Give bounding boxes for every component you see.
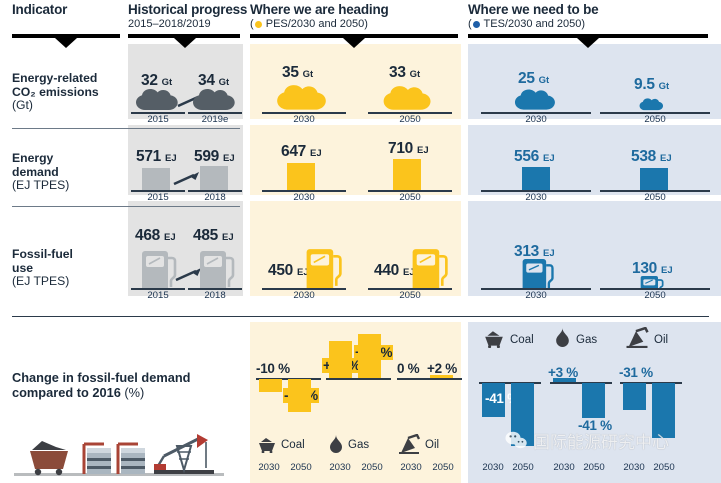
value-co2-tes-2050: 9.5 Gt (634, 76, 669, 94)
watermark: 国际能源研究中心 (505, 428, 669, 453)
value-ed-pes-2030: 647 EJ (281, 143, 322, 161)
year-ff-hist-2018: 2018 (188, 290, 242, 301)
year-ff-pes-2050: 2050 (368, 290, 452, 301)
year-tes-gas-2030: 2030 (547, 462, 581, 473)
value-unit: Gt (410, 69, 421, 80)
row-label-energy-demand: Energy demand (EJ TPES) (12, 152, 124, 193)
year-pes-oil-2050: 2050 (426, 462, 460, 473)
value-ed-tes-2050: 538 EJ (631, 148, 672, 166)
pct-pes-oil-2030: 0 % (397, 361, 419, 376)
header-col-pes: Where we are heading ( PES/2030 and 2050… (250, 2, 389, 30)
value-number: 34 (198, 72, 215, 89)
year-tes-gas-2050: 2050 (577, 462, 611, 473)
row-label-ff-unit: (EJ TPES) (12, 275, 124, 289)
value-unit: Gt (659, 81, 670, 92)
year-ff-tes-2050: 2050 (600, 290, 710, 301)
year-pes-gas-2030: 2030 (323, 462, 357, 473)
year-co2-hist-2015: 2015 (131, 114, 185, 125)
row-label-change-line2: compared to 2016 (%) (12, 385, 232, 400)
bar-ed-tes-2030 (522, 167, 550, 190)
year-tes-oil-2030: 2030 (617, 462, 651, 473)
bar-pes-coal-2030 (259, 379, 282, 392)
value-unit: Gt (539, 75, 550, 86)
bar-ed-tes-2050 (640, 168, 668, 190)
year-co2-pes-2030: 2030 (262, 114, 346, 125)
row-label-fossil-use: Fossil-fuel use (EJ TPES) (12, 248, 124, 289)
year-ff-pes-2030: 2030 (262, 290, 346, 301)
row-label-ed-line1: Energy (12, 152, 124, 166)
value-number: 468 (135, 227, 160, 244)
value-unit: Gt (219, 77, 230, 88)
progress-arrow-row2 (172, 170, 202, 188)
fuel-pump-icon-tes-2030 (519, 258, 557, 289)
year-ff-hist-2015: 2015 (131, 290, 185, 301)
watermark-text: 国际能源研究中心 (533, 428, 669, 453)
paren-open-2: ( (468, 18, 472, 30)
value-number: 33 (389, 64, 406, 81)
oil-pumpjack-icon-tes (625, 327, 649, 348)
row-label-ed-line2: demand (12, 166, 124, 180)
value-unit: EJ (660, 153, 672, 164)
row-label-ed-unit: (EJ TPES) (12, 179, 124, 193)
header-title-historical: Historical progress (128, 2, 247, 17)
fuel-label-coal-pes: Coal (281, 439, 305, 451)
band-tes-row3 (468, 201, 721, 296)
year-ed-tes-2030: 2030 (481, 192, 591, 203)
value-unit: Gt (303, 69, 314, 80)
cloud-icon-hist-2019 (192, 88, 240, 112)
bar-pes-gas-2030 (329, 341, 352, 378)
value-number: 32 (141, 72, 158, 89)
bar-ed-pes-2030 (287, 163, 315, 190)
header-col-indicator: Indicator (12, 2, 67, 17)
year-co2-pes-2050: 2050 (368, 114, 452, 125)
bar-tes-oil-2030 (623, 383, 646, 410)
coal-cart-icon-pes (257, 437, 277, 453)
band-tes-row1 (468, 44, 721, 119)
bar-ed-hist-2018 (200, 166, 228, 190)
paren-open: ( (250, 18, 254, 30)
value-number: 25 (518, 70, 535, 87)
value-unit: EJ (223, 153, 235, 164)
value-ed-pes-2050: 710 EJ (388, 140, 429, 158)
year-tes-coal-2030: 2030 (476, 462, 510, 473)
value-number: 440 (374, 262, 399, 279)
row-label-co2-line2: CO₂ emissions (12, 86, 124, 100)
header-col-tes: Where we need to be ( TES/2030 and 2050) (468, 2, 598, 30)
gas-flame-icon-pes (329, 435, 343, 454)
year-ed-pes-2030: 2030 (262, 192, 346, 203)
row-divider-2 (12, 206, 240, 207)
zeroline-pes-oil (397, 378, 462, 380)
bar-pes-coal-2050 (288, 379, 311, 412)
header-col-historical: Historical progress 2015–2018/2019 (128, 2, 247, 30)
fuel-label-oil-tes: Oil (654, 334, 668, 346)
value-number: 599 (194, 148, 219, 165)
value-unit: EJ (165, 153, 177, 164)
pct-pes-oil-2050: +2 % (427, 361, 457, 376)
value-unit: EJ (543, 153, 555, 164)
year-pes-coal-2030: 2030 (252, 462, 286, 473)
header-title-indicator: Indicator (12, 2, 67, 17)
value-co2-tes-2030: 25 Gt (518, 70, 549, 88)
header-arrow-tes (577, 38, 599, 48)
value-ed-tes-2030: 556 EJ (514, 148, 555, 166)
year-tes-coal-2050: 2050 (506, 462, 540, 473)
header-subtitle-pes-text: PES/2030 and 2050) (266, 18, 368, 30)
pct-pes-coal-2030: -10 % (256, 361, 290, 376)
oil-pumpjack-icon (154, 434, 214, 474)
value-ff-hist-2015: 468 EJ (135, 227, 176, 245)
year-ff-tes-2030: 2030 (481, 290, 591, 301)
cloud-icon-pes-2030 (275, 84, 333, 112)
value-number: 647 (281, 143, 306, 160)
fuel-pump-icon-pes-2050 (408, 244, 452, 289)
row-label-co2-line1: Energy-related (12, 72, 124, 86)
year-pes-coal-2050: 2050 (284, 462, 318, 473)
fuel-pump-icon-hist-2018 (196, 246, 238, 290)
value-co2-pes-2050: 33 Gt (389, 64, 420, 82)
value-number: 710 (388, 140, 413, 157)
value-ed-hist-2015: 571 EJ (136, 148, 177, 166)
value-number: 35 (282, 64, 299, 81)
fuel-label-coal-tes: Coal (510, 334, 534, 346)
cloud-icon-pes-2050 (382, 85, 437, 112)
value-number: 9.5 (634, 76, 655, 93)
bar-ed-pes-2050 (393, 159, 421, 190)
year-ed-tes-2050: 2050 (600, 192, 710, 203)
value-co2-pes-2030: 35 Gt (282, 64, 313, 82)
header-arrow-pes (343, 38, 365, 48)
gas-flame-icon-tes (555, 328, 570, 348)
value-unit: EJ (310, 148, 322, 159)
bar-tes-gas-2050 (582, 383, 605, 418)
fuel-label-oil-pes: Oil (425, 439, 439, 451)
header-arrow-historical (174, 38, 196, 48)
row-divider-1 (12, 128, 240, 129)
value-number: 556 (514, 148, 539, 165)
row-label-change: Change in fossil-fuel demand compared to… (12, 370, 232, 400)
header-title-tes: Where we need to be (468, 2, 598, 17)
value-number: 450 (268, 262, 293, 279)
bar-ed-hist-2015 (142, 168, 170, 190)
value-number: 571 (136, 148, 161, 165)
row-label-ff-line1: Fossil-fuel (12, 248, 124, 262)
row-label-co2-unit: (Gt) (12, 99, 124, 113)
header-arrow-indicator (55, 38, 77, 48)
yellow-dot-icon (255, 21, 262, 28)
value-ff-hist-2018: 485 EJ (193, 227, 234, 245)
row-label-ff-line2: use (12, 262, 124, 276)
zeroline-pes-gas (326, 378, 391, 380)
bar-pes-oil-2050 (430, 375, 453, 378)
wechat-icon (505, 431, 529, 451)
year-ed-pes-2050: 2050 (368, 192, 452, 203)
year-ed-hist-2018: 2018 (188, 192, 242, 203)
value-number: 538 (631, 148, 656, 165)
bar-pes-gas-2050 (358, 334, 381, 378)
year-pes-oil-2030: 2030 (394, 462, 428, 473)
band-tes-row2 (468, 125, 721, 195)
year-co2-hist-2019: 2019e (188, 114, 242, 125)
year-pes-gas-2050: 2050 (355, 462, 389, 473)
oil-tanks-icon (84, 444, 145, 474)
pct-tes-oil-2030: -31 % (619, 365, 653, 380)
header-title-pes: Where we are heading (250, 2, 389, 17)
year-co2-tes-2030: 2030 (481, 114, 591, 125)
oil-pumpjack-icon-pes (398, 434, 420, 454)
fuel-label-gas-tes: Gas (576, 334, 597, 346)
row-label-change-line1: Change in fossil-fuel demand (12, 370, 232, 385)
row-label-change-unit: (%) (124, 385, 144, 400)
year-tes-oil-2050: 2050 (647, 462, 681, 473)
row-label-co2: Energy-related CO₂ emissions (Gt) (12, 72, 124, 113)
blue-dot-icon (473, 21, 480, 28)
header-subtitle-pes: ( PES/2030 and 2050) (250, 18, 389, 30)
fossil-illustration (14, 428, 224, 478)
fuel-label-gas-pes: Gas (348, 439, 369, 451)
fuel-pump-icon-pes-2030 (302, 244, 346, 289)
value-unit: Gt (162, 77, 173, 88)
value-number: 485 (193, 227, 218, 244)
header-subtitle-tes: ( TES/2030 and 2050) (468, 18, 598, 30)
coal-cart-icon (30, 441, 68, 475)
value-unit: EJ (164, 232, 176, 243)
coal-cart-icon-tes (483, 330, 505, 348)
row-label-change-text: compared to 2016 (12, 385, 121, 400)
row-divider-3 (12, 316, 709, 317)
header-subtitle-tes-text: TES/2030 and 2050) (484, 18, 586, 30)
value-ed-hist-2018: 599 EJ (194, 148, 235, 166)
cloud-icon-tes-2050 (639, 97, 666, 112)
bar-tes-gas-2030 (553, 378, 576, 382)
value-unit: EJ (417, 145, 429, 156)
year-ed-hist-2015: 2015 (131, 192, 185, 203)
fuel-pump-icon-tes-2050 (638, 275, 666, 289)
header-subtitle-historical: 2015–2018/2019 (128, 18, 247, 30)
cloud-icon-tes-2030 (514, 88, 560, 112)
value-unit: EJ (222, 232, 234, 243)
year-co2-tes-2050: 2050 (600, 114, 710, 125)
